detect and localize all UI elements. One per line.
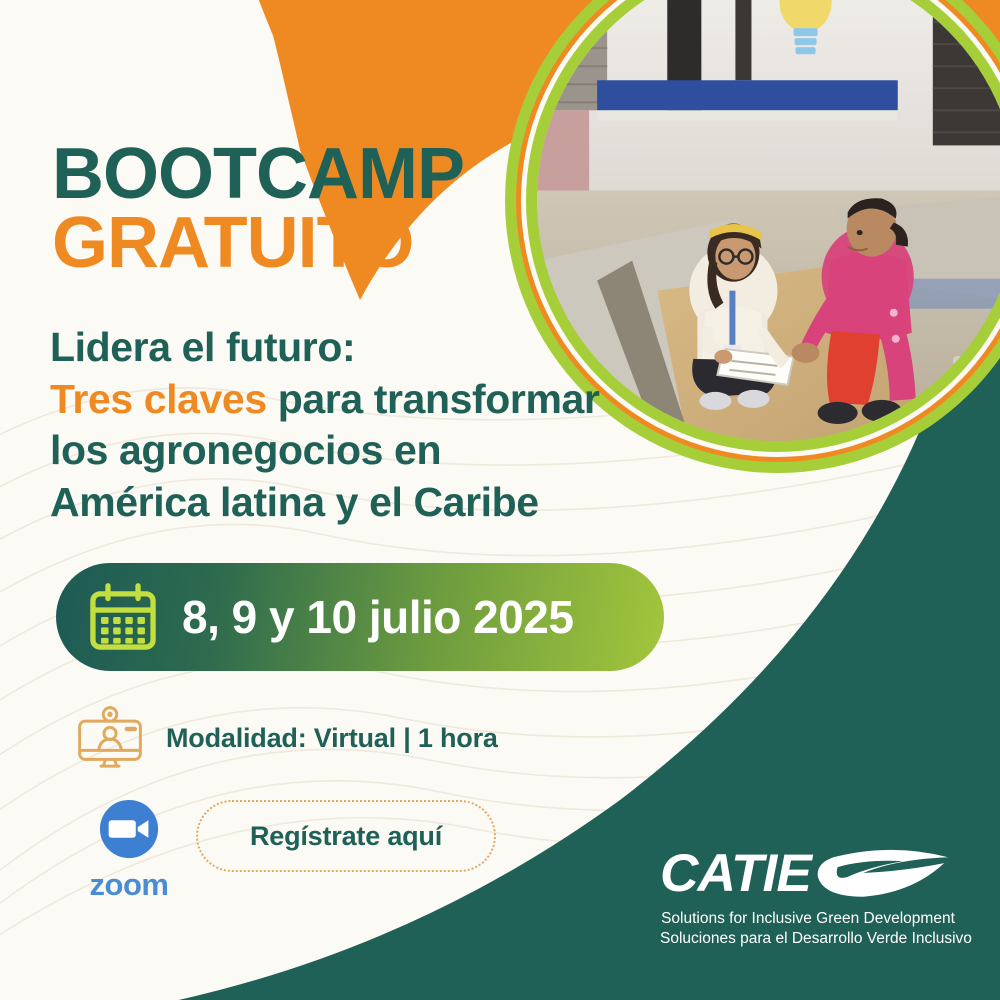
page-title: BOOTCAMP GRATUITO xyxy=(52,140,464,278)
subtitle-highlight: Tres claves xyxy=(50,376,267,422)
catie-tagline-es: Soluciones para el Desarrollo Verde Incl… xyxy=(660,929,956,949)
video-monitor-icon xyxy=(74,702,146,774)
modality-text: Modalidad: Virtual | 1 hora xyxy=(166,723,498,754)
date-text: 8, 9 y 10 julio 2025 xyxy=(182,590,573,644)
zoom-logo: zoom xyxy=(70,798,188,903)
subtitle-line-2: Tres claves para transformar xyxy=(50,374,740,426)
catie-tagline: Solutions for Inclusive Green Developmen… xyxy=(660,909,956,948)
subtitle-line-3: los agronegocios en xyxy=(50,425,740,477)
subtitle: Lidera el futuro: Tres claves para trans… xyxy=(50,322,740,529)
svg-text:CATIE: CATIE xyxy=(660,845,813,903)
catie-wordmark-icon: CATIE xyxy=(660,845,956,907)
poster-canvas: BOOTCAMP GRATUITO Lidera el futuro: Tres… xyxy=(0,0,1000,1000)
modality-row: Modalidad: Virtual | 1 hora xyxy=(74,702,498,774)
zoom-wordmark: zoom xyxy=(70,867,188,903)
subtitle-line-4: América latina y el Caribe xyxy=(50,477,740,529)
catie-tagline-en: Solutions for Inclusive Green Developmen… xyxy=(660,909,956,929)
zoom-camera-icon xyxy=(98,798,160,860)
date-banner: 8, 9 y 10 julio 2025 xyxy=(56,563,664,671)
catie-logo: CATIE Solutions for Inclusive Green Deve… xyxy=(660,845,990,948)
subtitle-line-2-rest: para transformar xyxy=(267,376,600,422)
register-button[interactable]: Regístrate aquí xyxy=(196,800,496,872)
title-line-bootcamp: BOOTCAMP xyxy=(52,140,464,209)
title-line-gratuito: GRATUITO xyxy=(52,209,464,278)
calendar-icon xyxy=(86,580,160,654)
subtitle-line-1: Lidera el futuro: xyxy=(50,322,740,374)
